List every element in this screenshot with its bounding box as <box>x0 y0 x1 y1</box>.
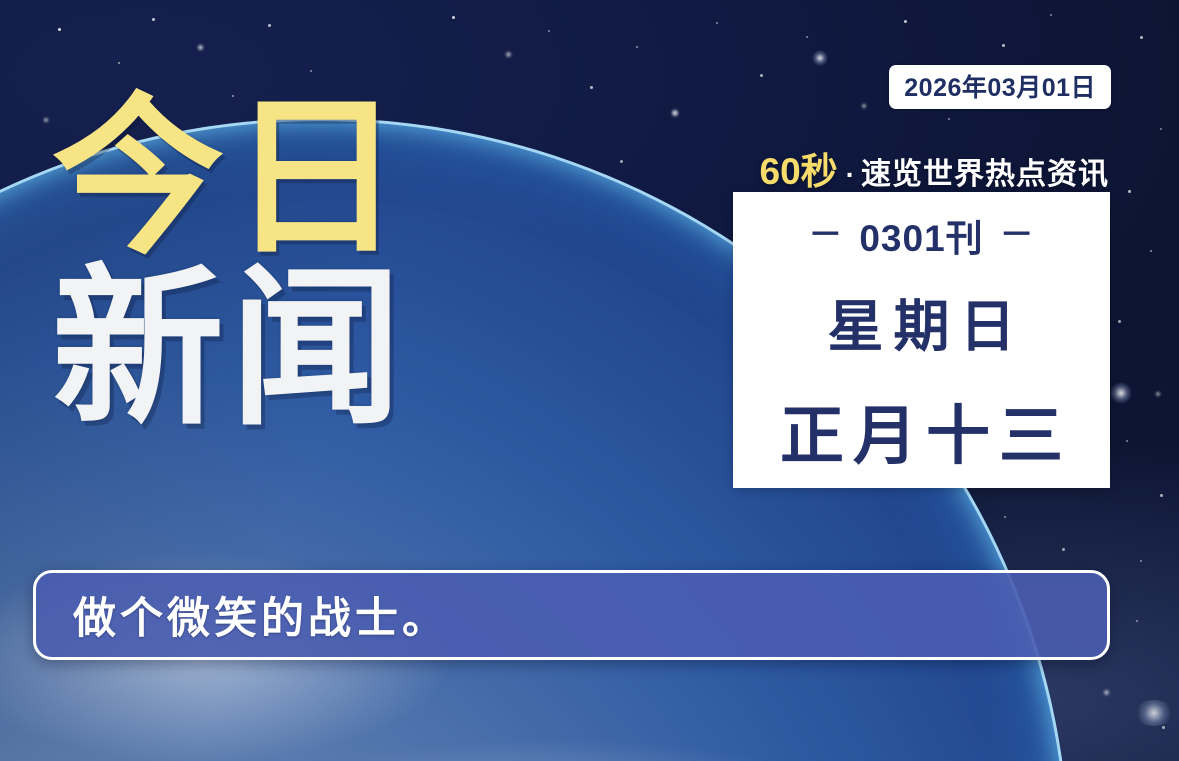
issue-dash-right: － <box>1000 218 1035 252</box>
date-badge: 2026年03月01日 <box>889 65 1111 109</box>
issue-number: 0301刊 <box>859 208 983 262</box>
tagline-separator: · <box>838 159 861 191</box>
title-line-news: 新闻 <box>52 267 408 432</box>
quote-bar: 做个微笑的战士。 <box>33 570 1110 660</box>
tagline-description: 速览世界热点资讯 <box>861 149 1109 193</box>
tagline-seconds: 60秒 <box>760 141 838 195</box>
issue-dash-left: － <box>808 218 843 252</box>
title-line-today: 今日 <box>52 96 408 261</box>
news-poster: 今日 新闻 2026年03月01日 60秒 · 速览世界热点资讯 － 0301刊… <box>0 0 1179 761</box>
issue-row: － 0301刊 － <box>808 208 1034 262</box>
quote-text: 做个微笑的战士。 <box>73 584 449 646</box>
weekday-label: 星期日 <box>818 282 1026 363</box>
tagline: 60秒 · 速览世界热点资讯 <box>760 141 1109 195</box>
lunar-date-label: 正月十三 <box>771 385 1072 477</box>
info-card: － 0301刊 － 星期日 正月十三 <box>733 192 1110 488</box>
poster-title: 今日 新闻 <box>52 96 408 432</box>
